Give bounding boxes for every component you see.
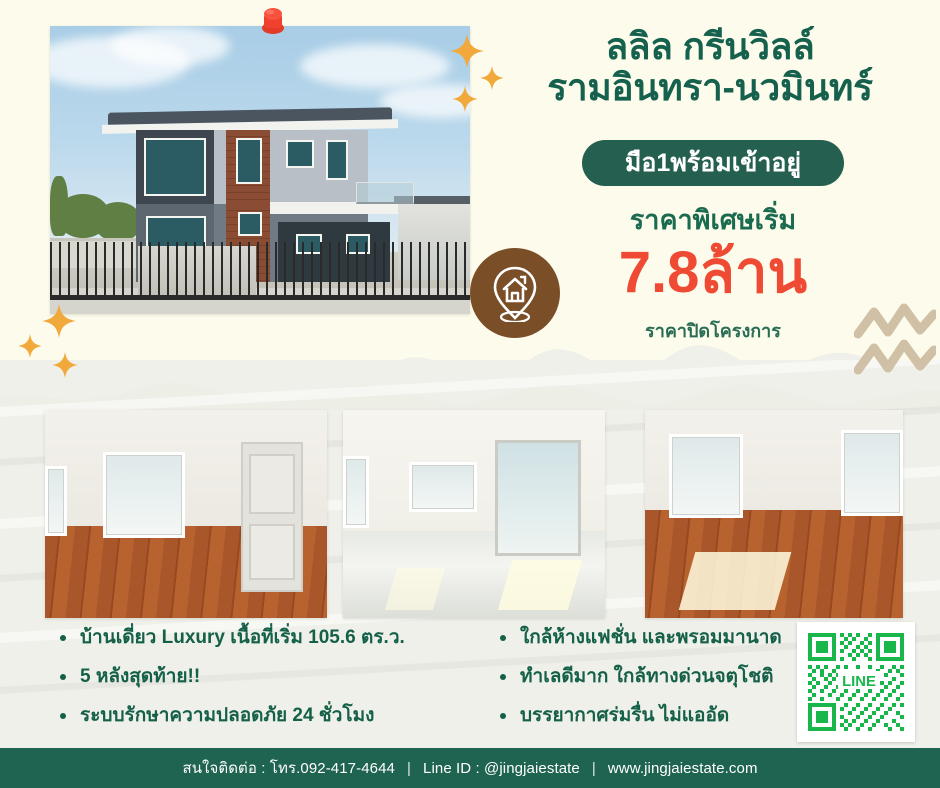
sparkle-star-icon [42, 304, 76, 338]
title-line-1: ลลิล กรีนวิลล์ [606, 26, 815, 67]
list-item: 5 หลังสุดท้าย!! [58, 667, 405, 686]
status-badge: มือ1พร้อมเข้าอยู่ [582, 140, 844, 186]
qr-line-label: LINE [842, 674, 876, 690]
interior-photo-tiled-room [343, 410, 605, 618]
feature-list-left: บ้านเดี่ยว Luxury เนื้อที่เริ่ม 105.6 ตร… [58, 628, 405, 745]
list-item: ระบบรักษาความปลอดภัย 24 ชั่วโมง [58, 706, 405, 725]
footer-phone: สนใจติดต่อ : โทร.092-417-4644 [182, 756, 395, 780]
sparkle-star-icon [450, 34, 484, 68]
line-qr-code[interactable]: LINE [797, 622, 915, 742]
title-line-2: รามอินทรา-นวมินทร์ [490, 67, 930, 108]
red-pushpin-icon [258, 2, 288, 36]
poster-canvas: ลลิล กรีนวิลล์ รามอินทรา-นวมินทร์ มือ1พร… [0, 0, 940, 788]
list-item: ใกล้ห้างแฟชั่น และพรอมมานาด [498, 628, 782, 647]
contact-footer: สนใจติดต่อ : โทร.092-417-4644 | Line ID … [0, 748, 940, 788]
price-label: ราคาพิเศษเริ่ม [582, 198, 844, 241]
feature-list-right: ใกล้ห้างแฟชั่น และพรอมมานาด ทำเลดีมาก ใก… [498, 628, 782, 745]
zigzag-wave-icon [854, 300, 936, 384]
footer-separator: | [592, 760, 596, 777]
sparkle-star-icon [452, 86, 478, 112]
price-value: 7.8ล้าน [566, 244, 860, 302]
list-item: ทำเลดีมาก ใกล้ทางด่วนจตุโชติ [498, 667, 782, 686]
page-title: ลลิล กรีนวิลล์ รามอินทรา-นวมินทร์ [490, 26, 930, 109]
interior-photo-bedroom [645, 410, 903, 618]
house-location-pin-icon [470, 248, 560, 338]
sparkle-star-icon [52, 352, 78, 378]
footer-line-id: Line ID : @jingjaiestate [423, 760, 580, 777]
price-subtext: ราคาปิดโครงการ [582, 316, 844, 345]
hero-house-photo [50, 26, 470, 314]
list-item: บรรยากาศร่มรื่น ไม่แออัด [498, 706, 782, 725]
sparkle-star-icon [18, 334, 42, 358]
footer-website[interactable]: www.jingjaiestate.com [608, 760, 758, 777]
list-item: บ้านเดี่ยว Luxury เนื้อที่เริ่ม 105.6 ตร… [58, 628, 405, 647]
footer-separator: | [407, 760, 411, 777]
interior-photo-living-room [45, 410, 327, 618]
